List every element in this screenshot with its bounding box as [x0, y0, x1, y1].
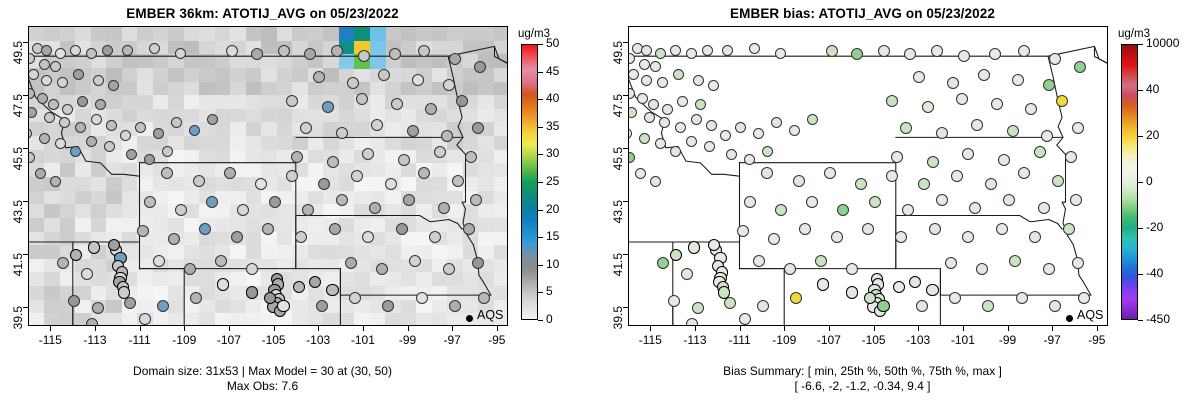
monitor-marker [706, 120, 717, 131]
y-axis-tick-label: 41.5 [611, 253, 625, 287]
monitor-marker [441, 130, 453, 142]
monitor-marker [304, 48, 316, 60]
monitor-marker [336, 127, 348, 139]
monitor-marker [956, 93, 968, 105]
monitor-marker [862, 223, 874, 235]
monitor-marker [443, 263, 455, 275]
monitor-marker [947, 77, 959, 89]
monitor-marker [73, 69, 84, 80]
monitor-marker [824, 167, 836, 179]
x-axis-tick-label: -107 [809, 333, 849, 347]
monitor-marker [48, 99, 59, 110]
monitor-marker [231, 231, 243, 243]
monitor-marker [753, 255, 765, 267]
x-axis-tick-label: -105 [854, 333, 894, 347]
monitor-marker [309, 276, 321, 288]
monitor-marker [470, 194, 482, 206]
monitor-marker [193, 175, 205, 187]
x-axis-tick-label: -105 [254, 333, 294, 347]
monitor-marker [1009, 255, 1021, 267]
y-axis-tick-label: 43.5 [611, 200, 625, 234]
monitor-marker [628, 107, 637, 118]
monitor-marker [688, 241, 700, 253]
monitor-marker [251, 48, 263, 60]
caption-model-line1: Domain size: 31x53 | Max Model = 30 at (… [0, 364, 525, 378]
monitor-marker [789, 125, 800, 136]
monitor-marker [175, 204, 187, 216]
caption-bias-line2: [ -6.6, -2, -1.2, -0.34, 9.4 ] [600, 379, 1125, 393]
monitor-marker [869, 196, 881, 208]
monitor-marker [39, 59, 50, 70]
monitor-marker [472, 257, 484, 269]
x-axis-tick-label: -109 [164, 333, 204, 347]
monitor-marker [226, 45, 238, 57]
monitor-marker [77, 96, 88, 107]
y-axis-tick-label: 39.5 [611, 306, 625, 340]
x-axis-tick-label: -97 [432, 333, 472, 347]
monitor-marker [139, 313, 151, 325]
monitor-marker [345, 257, 357, 269]
colorbar-tick-label: -20 [1146, 220, 1163, 234]
monitor-marker [474, 61, 486, 73]
monitor-marker [322, 101, 334, 113]
map-plot-bias[interactable]: AQS [628, 26, 1108, 326]
colorbar-bias [1121, 44, 1138, 320]
y-axis-tick-label: 43.5 [11, 200, 25, 234]
colorbar-tick-label: 0 [1146, 174, 1153, 188]
monitor-marker [463, 223, 475, 235]
monitor-marker [628, 88, 635, 99]
monitor-marker [662, 104, 673, 115]
monitor-marker [443, 79, 455, 91]
aqs-legend-dot-bias [1066, 315, 1073, 322]
monitor-marker [704, 141, 715, 152]
monitor-marker [702, 45, 713, 56]
monitor-marker [171, 117, 182, 128]
x-axis-tick-label: -113 [675, 333, 715, 347]
monitor-marker [246, 263, 258, 275]
monitor-marker [108, 239, 120, 251]
monitor-marker [316, 300, 328, 312]
monitor-marker [407, 125, 419, 137]
monitor-marker [927, 156, 939, 168]
monitor-marker [886, 170, 898, 182]
x-axis-tick-label: -109 [764, 333, 804, 347]
monitor-marker [396, 223, 408, 235]
x-axis-tick-label: -95 [1077, 333, 1117, 347]
monitor-marker [88, 241, 100, 253]
monitor-marker [904, 48, 916, 60]
monitor-marker [958, 50, 970, 62]
monitor-marker [184, 263, 196, 275]
monitor-marker [1012, 74, 1024, 86]
monitor-marker [677, 96, 688, 107]
x-axis-tick-label: -111 [120, 333, 160, 347]
x-axis-tick-label: -115 [630, 333, 670, 347]
monitor-marker [628, 152, 635, 163]
monitor-marker [784, 263, 796, 275]
monitor-marker [753, 128, 764, 139]
monitor-marker [724, 297, 736, 309]
monitor-marker [57, 257, 69, 269]
monitor-marker [1072, 122, 1084, 134]
monitor-marker [831, 231, 843, 243]
x-axis-tick-label: -101 [343, 333, 383, 347]
monitor-marker [909, 276, 921, 288]
monitor-marker [269, 196, 281, 208]
monitor-marker [775, 204, 787, 216]
monitor-marker [35, 168, 46, 179]
monitor-marker [962, 231, 974, 243]
monitor-marker [668, 295, 680, 307]
monitor-marker [1029, 231, 1041, 243]
monitor-marker [708, 239, 720, 251]
state-boundaries-bias [629, 27, 1108, 326]
monitor-marker [157, 300, 169, 312]
monitor-marker [1041, 130, 1053, 142]
monitor-marker [691, 114, 702, 125]
monitor-marker [153, 128, 164, 139]
colorbar-tick-label: 40 [546, 91, 559, 105]
monitor-marker [86, 48, 97, 59]
colorbar-tick-label: 30 [546, 146, 559, 160]
monitor-marker [278, 45, 290, 57]
figure-root: EMBER 36km: ATOTIJ_AVG on 05/23/2022 AQS… [0, 0, 1200, 409]
monitor-marker [207, 114, 218, 125]
monitor-marker [757, 300, 769, 312]
y-axis-tick-label: 45.5 [11, 147, 25, 181]
monitor-marker [44, 112, 55, 123]
monitor-marker [62, 104, 73, 115]
monitor-marker [358, 50, 370, 62]
monitor-marker [644, 112, 655, 123]
monitor-marker [949, 292, 961, 304]
monitor-marker [356, 93, 368, 105]
monitor-marker [807, 114, 818, 125]
monitor-marker [951, 170, 963, 182]
monitor-marker [726, 149, 737, 160]
colorbar-tick-label: 0 [546, 312, 553, 326]
colorbar-tick-label: 25 [546, 174, 559, 188]
caption-model-line2: Max Obs: 7.6 [0, 379, 525, 393]
monitor-marker [472, 122, 484, 134]
y-axis-tick-label: 39.5 [11, 306, 25, 340]
monitor-marker [793, 175, 805, 187]
colorbar-tick-label: 10 [546, 257, 559, 271]
monitor-marker [945, 257, 957, 269]
monitor-marker [891, 151, 903, 163]
monitor-marker [28, 107, 37, 118]
monitor-marker [291, 151, 303, 163]
monitor-marker [929, 223, 941, 235]
monitor-marker [144, 196, 156, 208]
monitor-marker [86, 136, 97, 147]
y-axis-tick-label: 49.5 [11, 41, 25, 75]
monitor-marker [686, 136, 697, 147]
monitor-marker [286, 170, 298, 182]
monitor-marker [86, 318, 98, 326]
x-axis-tick-label: -101 [943, 333, 983, 347]
monitor-marker [695, 99, 706, 110]
monitor-marker [1074, 61, 1086, 73]
colorbar-tick-label: -450 [1146, 312, 1170, 326]
colorbar-tick-label: 35 [546, 119, 559, 133]
monitor-marker [978, 69, 990, 81]
monitor-marker [846, 263, 858, 275]
monitor-marker [28, 88, 35, 99]
monitor-marker [438, 202, 450, 214]
monitor-marker [998, 154, 1010, 166]
colorbar-tick-label: 10000 [1146, 36, 1179, 50]
monitor-marker [922, 101, 934, 113]
monitor-marker [434, 146, 446, 158]
colorbar-tick-label: 45 [546, 64, 559, 78]
panel-title-model: EMBER 36km: ATOTIJ_AVG on 05/23/2022 [0, 6, 525, 21]
monitor-marker [1016, 292, 1028, 304]
monitor-marker [650, 176, 661, 187]
monitor-marker [686, 318, 698, 326]
x-axis-tick-label: -103 [898, 333, 938, 347]
monitor-marker [189, 125, 200, 136]
monitor-marker [673, 69, 684, 80]
monitor-marker [81, 268, 93, 280]
monitor-marker [37, 93, 48, 104]
monitor-marker [1063, 223, 1075, 235]
colorbar-model [521, 44, 538, 320]
monitor-marker [91, 114, 102, 125]
monitor-marker [877, 300, 889, 312]
monitor-marker [936, 127, 948, 139]
monitor-marker [926, 284, 938, 296]
monitor-marker [639, 59, 650, 70]
monitor-marker [403, 194, 415, 206]
monitor-marker [637, 93, 648, 104]
monitor-marker [398, 154, 410, 166]
monitor-marker [41, 75, 52, 86]
monitor-marker [465, 151, 477, 163]
map-plot-model[interactable]: AQS [28, 26, 508, 326]
monitor-marker [68, 295, 80, 307]
monitor-marker [347, 77, 359, 89]
x-axis-tick-label: -107 [209, 333, 249, 347]
monitor-marker [1065, 151, 1077, 163]
monitor-marker [429, 231, 441, 243]
monitor-marker [385, 178, 397, 190]
monitor-marker [55, 48, 66, 59]
monitor-marker [416, 292, 428, 304]
x-axis-tick-label: -111 [720, 333, 760, 347]
monitor-marker [1007, 125, 1019, 137]
monitor-marker [255, 178, 267, 190]
monitor-marker [104, 141, 115, 152]
panel-bias: EMBER bias: ATOTIJ_AVG on 05/23/2022 AQS… [600, 0, 1200, 409]
monitor-marker [936, 194, 948, 206]
panel-model: EMBER 36km: ATOTIJ_AVG on 05/23/2022 AQS… [0, 0, 600, 409]
monitor-marker [389, 48, 401, 60]
monitor-marker [1070, 194, 1082, 206]
monitor-marker [349, 292, 361, 304]
monitor-marker [124, 297, 136, 309]
monitor-marker [336, 194, 348, 206]
y-axis-tick-label: 45.5 [611, 147, 625, 181]
colorbar-tick-label: 20 [1146, 128, 1159, 142]
monitor-marker [412, 74, 424, 86]
colorbar-tick-label: 15 [546, 229, 559, 243]
aqs-legend-label-model: AQS [477, 308, 503, 322]
monitor-marker [318, 178, 330, 190]
state-boundaries-model [29, 27, 508, 326]
monitor-marker [215, 255, 227, 267]
monitor-marker [329, 223, 341, 235]
x-axis-tick-label: -99 [388, 333, 428, 347]
monitor-marker [326, 284, 338, 296]
monitor-marker [452, 175, 464, 187]
monitor-marker [418, 45, 430, 57]
monitor-marker [106, 120, 117, 131]
monitor-marker [102, 45, 113, 56]
monitor-marker [1072, 257, 1084, 269]
colorbar-tick-label: 5 [546, 284, 553, 298]
monitor-marker [1038, 202, 1050, 214]
monitor-marker [300, 122, 312, 134]
monitor-marker [851, 48, 863, 60]
y-axis-tick-label: 47.5 [611, 94, 625, 128]
x-axis-tick-label: -97 [1032, 333, 1072, 347]
monitor-marker [989, 48, 1001, 60]
x-axis-tick-label: -95 [477, 333, 517, 347]
monitor-marker [749, 43, 760, 54]
y-axis-tick-label: 41.5 [11, 253, 25, 287]
monitor-marker [1003, 194, 1015, 206]
monitor-marker [351, 170, 363, 182]
monitor-marker [976, 263, 988, 275]
monitor-marker [153, 255, 165, 267]
monitor-marker [635, 168, 646, 179]
monitor-marker [217, 278, 229, 290]
monitor-marker [295, 231, 307, 243]
monitor-marker [224, 167, 236, 179]
colorbar-tick-label: 20 [546, 202, 559, 216]
monitor-marker [331, 45, 343, 57]
monitor-marker [93, 75, 104, 86]
monitor-marker [95, 99, 106, 110]
monitor-marker [277, 300, 289, 312]
monitor-marker [126, 149, 137, 160]
y-axis-tick-label: 47.5 [11, 94, 25, 128]
monitor-marker [50, 176, 61, 187]
monitor-marker [409, 255, 421, 267]
monitor-marker [878, 45, 890, 57]
monitor-marker [686, 48, 697, 59]
monitor-marker [120, 130, 131, 141]
monitor-marker [693, 75, 704, 86]
monitor-marker [149, 43, 160, 54]
monitor-marker [1034, 146, 1046, 158]
monitor-marker [826, 45, 838, 57]
monitor-marker [641, 75, 652, 86]
monitor-marker [262, 223, 274, 235]
x-axis-tick-label: -103 [298, 333, 338, 347]
monitor-marker [918, 178, 930, 190]
colorbar-tick-label: 50 [546, 36, 559, 50]
monitor-marker [655, 48, 666, 59]
monitor-marker [28, 152, 35, 163]
monitor-marker [648, 99, 659, 110]
monitor-marker [771, 117, 782, 128]
monitor-marker [739, 313, 751, 325]
colorbar-tick-label: 40 [1146, 82, 1159, 96]
aqs-legend-dot-model [466, 315, 473, 322]
monitor-marker [815, 255, 827, 267]
caption-bias-line1: Bias Summary: [ min, 25th %, 50th %, 75t… [600, 364, 1125, 378]
y-axis-tick-label: 49.5 [611, 41, 625, 75]
monitor-marker [1043, 79, 1055, 91]
monitor-marker [985, 178, 997, 190]
x-axis-tick-label: -115 [30, 333, 70, 347]
x-axis-tick-label: -113 [75, 333, 115, 347]
monitor-marker [327, 156, 339, 168]
monitor-marker [900, 122, 912, 134]
monitor-marker [1052, 175, 1064, 187]
aqs-legend-label-bias: AQS [1077, 308, 1103, 322]
monitor-marker [1018, 45, 1030, 57]
monitor-marker [969, 202, 981, 214]
monitor-marker [931, 45, 943, 57]
monitor-marker [362, 231, 374, 243]
monitor-marker [720, 130, 731, 141]
panel-title-bias: EMBER bias: ATOTIJ_AVG on 05/23/2022 [600, 6, 1125, 21]
colorbar-tick-label: -40 [1146, 266, 1163, 280]
monitor-marker [657, 257, 669, 269]
monitor-marker [378, 69, 390, 81]
monitor-marker [895, 231, 907, 243]
monitor-marker [744, 196, 756, 208]
monitor-marker [376, 263, 388, 275]
monitor-marker [916, 300, 928, 312]
x-axis-tick-label: -99 [988, 333, 1028, 347]
monitor-marker [817, 278, 829, 290]
monitor-marker [369, 202, 381, 214]
monitor-marker [1043, 263, 1055, 275]
monitor-marker [855, 178, 867, 190]
monitor-marker [681, 268, 693, 280]
monitor-marker [996, 223, 1008, 235]
